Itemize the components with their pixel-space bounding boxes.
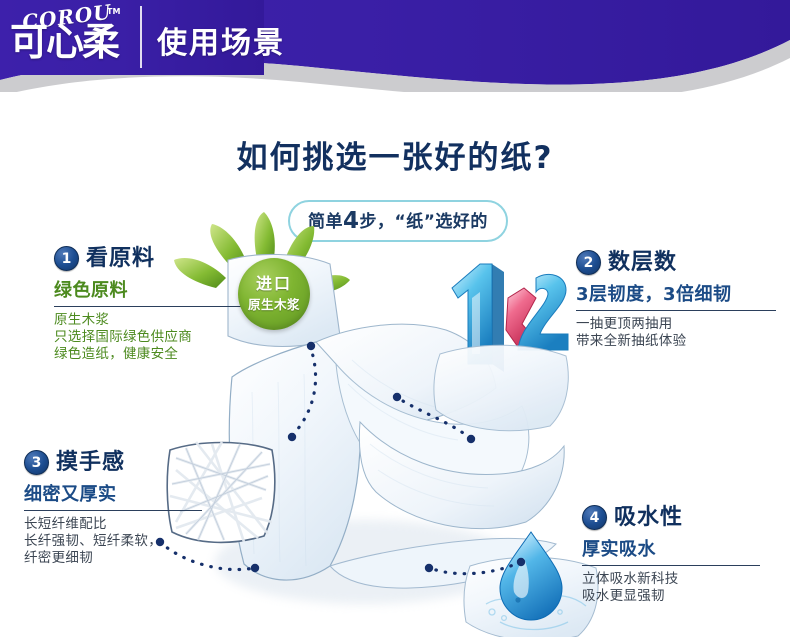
- subtitle-pill: 简单4步，“纸”选好的: [288, 200, 508, 242]
- seal-line-1: 进口: [256, 275, 292, 293]
- feature-1-header: 1 看原料: [54, 246, 269, 271]
- feature-1-rule: [54, 306, 262, 307]
- feature-1-body: 原生木浆 只选择国际绿色供应商 绿色造纸，健康安全: [54, 312, 269, 363]
- dotted-connector-paths: [160, 346, 520, 574]
- feature-1-body-line-3: 绿色造纸，健康安全: [54, 346, 269, 363]
- feature-2-rule: [576, 310, 776, 311]
- promo-page: COROU TM 可心柔 使用场景 如何挑选一张好的纸? 简单4步，“纸”选好的: [0, 0, 790, 637]
- logo: COROU TM 可心柔: [6, 3, 134, 73]
- feature-3-title: 摸手感: [56, 452, 125, 474]
- subtitle-number: 4: [343, 208, 360, 234]
- feature-4-rule: [582, 565, 760, 566]
- seal-line-2: 原生木浆: [248, 294, 300, 313]
- feature-2-body-line-2: 带来全新抽纸体验: [576, 333, 776, 350]
- feature-item-3: 3 摸手感 细密又厚实 长短纤维配比 长纤强韧、短纤柔软， 纤密更细韧: [24, 450, 209, 567]
- feature-2-header: 2 数层数: [576, 250, 776, 275]
- feature-3-body: 长短纤维配比 长纤强韧、短纤柔软， 纤密更细韧: [24, 516, 209, 567]
- trademark-icon: TM: [107, 7, 120, 16]
- banner-title: 使用场景: [157, 18, 285, 62]
- feature-item-4: 4 吸水性 厚实吸水 立体吸水新科技 吸水更显强韧: [582, 505, 767, 605]
- header-banner: COROU TM 可心柔 使用场景: [0, 0, 790, 92]
- origin-seal-badge: 进口 原生木浆: [238, 258, 310, 330]
- feature-3-body-line-2: 长纤强韧、短纤柔软，: [24, 533, 209, 550]
- feature-item-2: 2 数层数 3层韧度，3倍细韧 一抽更顶两抽用 带来全新抽纸体验: [576, 250, 776, 350]
- feature-4-subtitle: 厚实吸水: [582, 535, 767, 561]
- numbers-tissue: [434, 345, 568, 431]
- tissue-sheet-illustration: [229, 324, 564, 588]
- three-d-digits-1-2: [452, 264, 568, 372]
- banner-divider: [140, 6, 142, 68]
- feature-4-body: 立体吸水新科技 吸水更显强韧: [582, 571, 767, 605]
- water-droplet-illustration: [500, 532, 562, 620]
- feature-3-subtitle: 细密又厚实: [24, 480, 209, 506]
- feature-item-1: 1 看原料 绿色原料 原生木浆 只选择国际绿色供应商 绿色造纸，健康安全: [54, 246, 269, 363]
- feature-2-subtitle: 3层韧度，3倍细韧: [576, 280, 776, 306]
- logo-chinese-text: 可心柔: [10, 23, 118, 61]
- feature-1-body-line-1: 原生木浆: [54, 312, 269, 329]
- feature-3-header: 3 摸手感: [24, 450, 209, 475]
- subtitle-prefix: 简单: [308, 212, 343, 232]
- feature-4-title: 吸水性: [614, 507, 683, 529]
- droplet-tissue: [464, 557, 598, 637]
- feature-4-number-badge: 4: [582, 505, 607, 530]
- tissue-shadow: [215, 520, 515, 604]
- page-title: 如何挑选一张好的纸?: [0, 132, 790, 177]
- feature-3-body-line-1: 长短纤维配比: [24, 516, 209, 533]
- feature-3-body-line-3: 纤密更细韧: [24, 550, 209, 567]
- feature-2-body-line-1: 一抽更顶两抽用: [576, 316, 776, 333]
- feature-3-number-badge: 3: [24, 450, 49, 475]
- feature-2-body: 一抽更顶两抽用 带来全新抽纸体验: [576, 316, 776, 350]
- subtitle-suffix: 步，“纸”选好的: [360, 212, 488, 232]
- feature-4-body-line-1: 立体吸水新科技: [582, 571, 767, 588]
- feature-2-title: 数层数: [608, 252, 677, 274]
- feature-1-title: 看原料: [86, 248, 155, 270]
- water-splash: [486, 596, 586, 630]
- feature-4-header: 4 吸水性: [582, 505, 767, 530]
- feature-1-subtitle: 绿色原料: [54, 276, 269, 302]
- feature-2-number-badge: 2: [576, 250, 601, 275]
- feature-3-rule: [24, 510, 202, 511]
- connector-endpoints: [156, 342, 525, 572]
- feature-1-body-line-2: 只选择国际绿色供应商: [54, 329, 269, 346]
- feature-4-body-line-2: 吸水更显强韧: [582, 588, 767, 605]
- feature-1-number-badge: 1: [54, 246, 79, 271]
